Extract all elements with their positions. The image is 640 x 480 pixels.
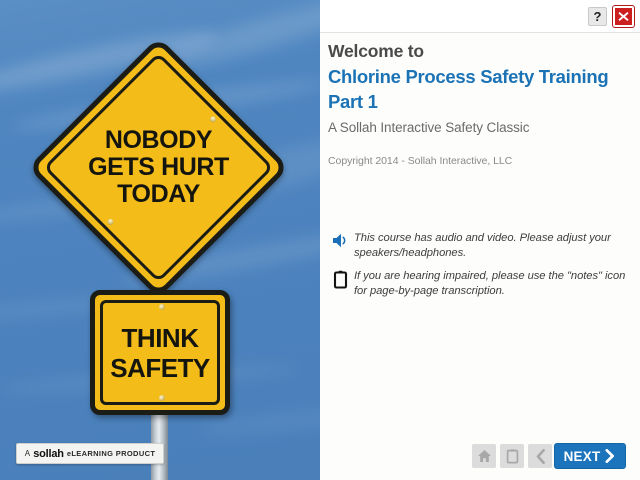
course-title: Chlorine Process Safety Training Part 1 — [328, 64, 634, 114]
notes-icon — [506, 449, 519, 464]
badge-brand: sollah — [33, 448, 64, 460]
next-button-label: NEXT — [564, 449, 601, 464]
home-button[interactable] — [472, 444, 496, 468]
close-button[interactable] — [613, 6, 634, 27]
course-subtitle: A Sollah Interactive Safety Classic — [328, 118, 634, 138]
notice-audio-text: This course has audio and video. Please … — [354, 231, 634, 260]
course-hero-image: NOBODY GETS HURT TODAY THINK SAFETY A so… — [0, 0, 320, 480]
content-panel: ? Welcome to Chlorine Process Safety Tra… — [320, 0, 640, 480]
next-button[interactable]: NEXT — [554, 443, 626, 469]
home-icon — [477, 449, 492, 463]
course-player-window: NOBODY GETS HURT TODAY THINK SAFETY A so… — [0, 0, 640, 480]
chevron-right-icon — [604, 449, 616, 463]
notice-transcription-text: If you are hearing impaired, please use … — [354, 269, 634, 298]
welcome-label: Welcome to — [328, 40, 634, 63]
diamond-sign-line-2: GETS HURT — [88, 154, 229, 181]
square-sign-text: THINK SAFETY — [90, 290, 230, 415]
notices-block: This course has audio and video. Please … — [328, 231, 634, 307]
square-sign-line-1: THINK — [122, 323, 199, 353]
diamond-sign-text: NOBODY GETS HURT TODAY — [66, 75, 251, 260]
window-topbar: ? — [320, 0, 640, 33]
help-button[interactable]: ? — [588, 7, 607, 26]
course-heading-block: Welcome to Chlorine Process Safety Train… — [328, 40, 634, 169]
navigation-bar: NEXT — [320, 444, 640, 472]
diamond-sign-line-3: TODAY — [117, 181, 200, 208]
square-sign-line-2: SAFETY — [110, 353, 210, 383]
badge-suffix: eLEARNING PRODUCT — [67, 449, 155, 458]
notice-transcription: If you are hearing impaired, please use … — [328, 269, 634, 298]
copyright-text: Copyright 2014 - Sollah Interactive, LLC — [328, 154, 634, 169]
close-icon — [617, 10, 630, 23]
notes-icon — [328, 269, 354, 295]
chevron-left-icon — [535, 449, 546, 464]
badge-prefix: A — [25, 449, 31, 458]
diamond-sign-line-1: NOBODY — [105, 127, 212, 154]
previous-button[interactable] — [528, 444, 552, 468]
notes-button[interactable] — [500, 444, 524, 468]
notice-audio: This course has audio and video. Please … — [328, 231, 634, 260]
speaker-icon — [328, 231, 354, 257]
sollah-elearning-badge: A sollah eLEARNING PRODUCT — [16, 443, 164, 464]
